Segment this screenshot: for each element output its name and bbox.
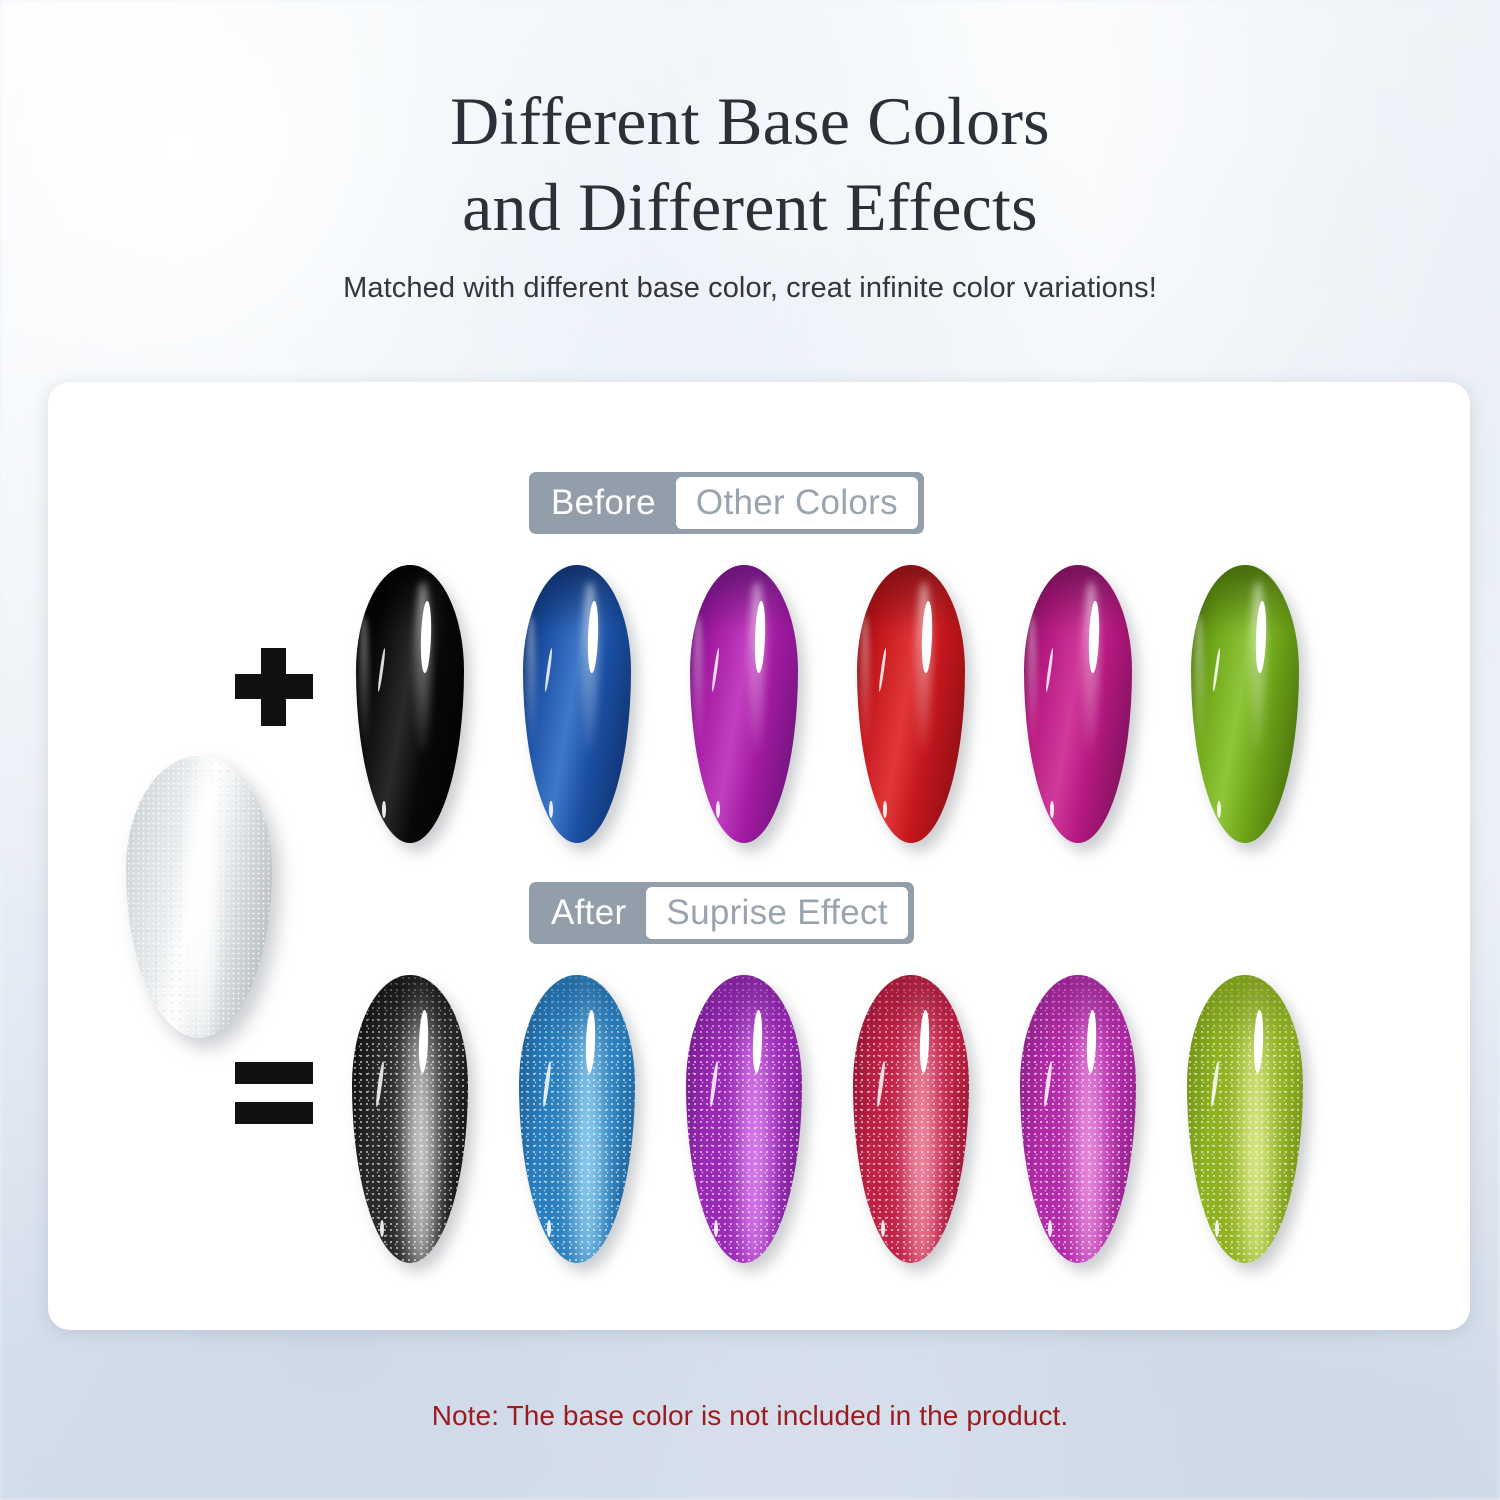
nail-before-magenta [1024, 565, 1132, 843]
equals-bar-top [235, 1062, 313, 1084]
nail-gloss-tip [380, 1220, 384, 1237]
nail-gloss-tip [1215, 1220, 1219, 1237]
nail-before-purple [690, 565, 798, 843]
nail-cuticle-shadow [857, 565, 965, 632]
nail-edge [1194, 615, 1204, 754]
page-subtitle: Matched with different base color, creat… [0, 272, 1500, 305]
base-nail-cateye-streak [184, 756, 222, 1038]
nail-edge [1027, 615, 1037, 754]
page-title-line-1: Different Base Colors [0, 78, 1500, 164]
nail-after-magenta-cat-eye [1020, 975, 1136, 1263]
nail-gloss-tip [1217, 801, 1221, 818]
nail-after-blue-cat-eye [519, 975, 635, 1263]
page-header: Different Base Colors and Different Effe… [0, 78, 1500, 305]
nail-cuticle-shadow [1191, 565, 1299, 632]
nail-before-black [356, 565, 464, 843]
nail-gloss-tip [881, 1220, 885, 1237]
nail-cuticle-shadow [352, 975, 468, 1044]
nail-gloss-tip [716, 801, 720, 818]
nail-after-purple-cat-eye [686, 975, 802, 1263]
base-color-nail-silver [126, 756, 272, 1038]
badge-before-value: Other Colors [676, 477, 918, 529]
nail-cuticle-shadow [1024, 565, 1132, 632]
nail-cuticle-shadow [690, 565, 798, 632]
nail-edge [526, 615, 536, 754]
plus-icon [235, 648, 313, 726]
nail-edge [860, 615, 870, 754]
nail-cuticle-shadow [519, 975, 635, 1044]
nail-cuticle-shadow [523, 565, 631, 632]
nail-before-olive-green [1191, 565, 1299, 843]
nail-after-red-cat-eye [853, 975, 969, 1263]
page-title-line-2: and Different Effects [0, 164, 1500, 250]
section-badge-after: After Suprise Effect [529, 882, 914, 944]
nail-cuticle-shadow [853, 975, 969, 1044]
badge-before-label: Before [529, 472, 676, 534]
badge-after-label: After [529, 882, 646, 944]
section-badge-before: Before Other Colors [529, 472, 924, 534]
nail-cuticle-shadow [1020, 975, 1136, 1044]
nail-gloss-tip [1048, 1220, 1052, 1237]
nail-gloss-tip [1050, 801, 1054, 818]
equals-icon [235, 1062, 313, 1124]
nail-cuticle-shadow [1187, 975, 1303, 1044]
nail-after-olive-green-cat-eye [1187, 975, 1303, 1263]
nail-gloss-tip [714, 1220, 718, 1237]
nail-after-black-cat-eye [352, 975, 468, 1263]
badge-after-value: Suprise Effect [646, 887, 907, 939]
nail-gloss-tip [549, 801, 553, 818]
nail-before-red [857, 565, 965, 843]
nail-edge [359, 615, 369, 754]
nail-gloss-tip [883, 801, 887, 818]
disclaimer-note: Note: The base color is not included in … [0, 1400, 1500, 1432]
nail-before-blue [523, 565, 631, 843]
nail-edge [693, 615, 703, 754]
nail-gloss-tip [382, 801, 386, 818]
equals-bar-bottom [235, 1102, 313, 1124]
nail-cuticle-shadow [356, 565, 464, 632]
nail-gloss-tip [547, 1220, 551, 1237]
nail-cuticle-shadow [686, 975, 802, 1044]
